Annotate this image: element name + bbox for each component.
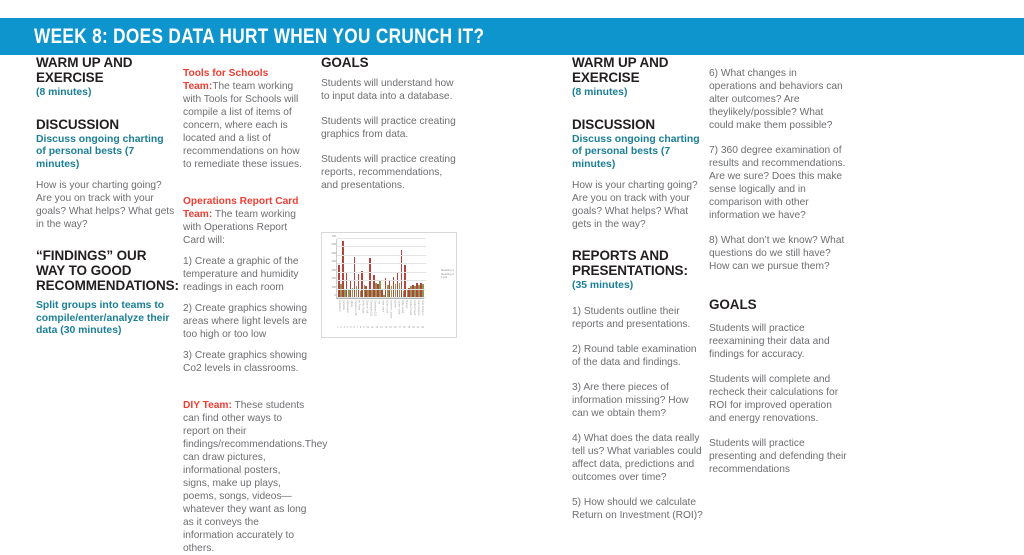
- chart-y-tick-label: 700: [332, 235, 336, 238]
- chart-y-tick-label: 0: [335, 294, 336, 297]
- chart-x-tick-label: Rear Entrance: [420, 300, 424, 328]
- chart-y-tick-label: 300: [332, 269, 336, 272]
- discussion-heading: DISCUSSION: [36, 117, 176, 132]
- question-item-7: 7) 360 degree examination of results and…: [709, 144, 847, 222]
- orc-item-3: 3) Create graphics showing Co2 levels in…: [183, 349, 307, 375]
- discussion-body: How is your charting going?Are you on tr…: [36, 179, 176, 231]
- goal-item-right-3: Students will practice presenting and de…: [709, 437, 847, 476]
- chart-y-tick-label: 600: [332, 243, 336, 246]
- chart-y-tick-label: 500: [332, 252, 336, 255]
- bar-chart-thumbnail: 0100200300400500600700 AuditoriumCafeter…: [321, 232, 457, 338]
- column-team-tasks: Tools for Schools Team:The team working …: [183, 55, 307, 555]
- goal-item-right-2: Students will complete and recheck their…: [709, 373, 847, 425]
- column-goals-chart: GOALS Students will understand how to in…: [321, 55, 457, 338]
- chart-gridline: 600: [337, 246, 426, 247]
- goal-item-right-1: Students will practice reexamining their…: [709, 322, 847, 361]
- chart-axis-mark: 8: [360, 326, 361, 329]
- chart-gridline: 700: [337, 238, 426, 239]
- chart-axis-mark: 20: [412, 326, 415, 329]
- chart-axis-mark: 13: [380, 326, 383, 329]
- chart-axis-mark: 16: [394, 326, 397, 329]
- chart-legend-item: Limit: [441, 276, 454, 280]
- orc-item-1: 1) Create a graphic of the temperature a…: [183, 255, 307, 294]
- chart-axis-mark: 12: [375, 326, 378, 329]
- chart-gridline: 500: [337, 255, 426, 256]
- chart-y-tick-label: 200: [332, 277, 336, 280]
- chart-gridline: 100: [337, 289, 426, 290]
- diy-team-paragraph: DIY Team: These students can find other …: [183, 399, 307, 555]
- chart-bar-group: [420, 283, 424, 298]
- report-item-3: 3) Are there pieces of information missi…: [572, 381, 707, 420]
- chart-bar: [422, 284, 424, 298]
- chart-y-tick-label: 100: [332, 286, 336, 289]
- question-item-8: 8) What don’t we know? What questions do…: [709, 234, 847, 273]
- chart-axis-mark: 3: [344, 326, 345, 329]
- column-reports-presentations: WARM UP AND EXERCISE (8 minutes) DISCUSS…: [572, 55, 707, 522]
- chart-axis-mark: 5: [350, 326, 351, 329]
- chart-gridline: 300: [337, 272, 426, 273]
- chart-axis-mark: 18: [403, 326, 406, 329]
- tools-for-schools-body: The team working with Tools for Schools …: [183, 81, 302, 170]
- diy-team-label: DIY Team:: [183, 400, 232, 411]
- report-item-5: 5) How should we calculate Return on Inv…: [572, 496, 707, 522]
- page-header-banner: WEEK 8: DOES DATA HURT WHEN YOU CRUNCH I…: [0, 18, 1024, 55]
- page-title: WEEK 8: DOES DATA HURT WHEN YOU CRUNCH I…: [34, 25, 484, 49]
- orc-item-2: 2) Create graphics showing areas where l…: [183, 302, 307, 341]
- chart-axis-mark: 4: [347, 326, 348, 329]
- chart-axis-mark: 2: [340, 326, 341, 329]
- column-warmup-findings: WARM UP AND EXERCISE (8 minutes) DISCUSS…: [36, 55, 176, 338]
- lesson-plan-sheet: WARM UP AND EXERCISE (8 minutes) DISCUSS…: [0, 55, 1024, 531]
- column-questions-goals: 6) What changes in operations and behavi…: [709, 55, 847, 476]
- goal-item-2: Students will practice creating graphics…: [321, 115, 457, 141]
- chart-axis-mark: 19: [408, 326, 411, 329]
- chart-gridline: 200: [337, 280, 426, 281]
- operations-report-card-paragraph: Operations Report Card Team: The team wo…: [183, 195, 307, 247]
- chart-axis-mark: 1: [337, 326, 338, 329]
- question-item-6: 6) What changes in operations and behavi…: [709, 67, 847, 132]
- findings-heading: “FINDINGS” OUR WAY TO GOOD RECOMMENDATIO…: [36, 248, 176, 293]
- report-item-2: 2) Round table examination of the data a…: [572, 343, 707, 369]
- goals-heading-left: GOALS: [321, 55, 457, 70]
- reports-heading: REPORTS AND PRESENTATIONS:: [572, 248, 707, 278]
- chart-legend: Reading 1Reading 2Limit: [441, 269, 454, 280]
- chart-axis-mark: 6: [353, 326, 354, 329]
- chart-axis-mark: 22: [421, 326, 424, 329]
- warmup-heading: WARM UP AND EXERCISE: [36, 55, 176, 85]
- goal-item-1: Students will understand how to input da…: [321, 77, 457, 103]
- chart-y-tick-label: 400: [332, 260, 336, 263]
- chart-axis-mark: 15: [389, 326, 392, 329]
- chart-axis-mark: 7: [357, 326, 358, 329]
- chart-x-axis-labels: AuditoriumCafeteriaGymnasiumLibraryCompu…: [337, 300, 424, 328]
- discussion-body-right: How is your charting going?Are you on tr…: [572, 179, 707, 231]
- findings-subheading: Split groups into teams to compile/enter…: [36, 300, 176, 338]
- chart-gridline: 0: [337, 297, 426, 298]
- report-item-1: 1) Students outline their reports and pr…: [572, 305, 707, 331]
- reports-duration: (35 minutes): [572, 280, 707, 293]
- chart-plot-area: 0100200300400500600700: [336, 239, 424, 299]
- chart-gridline: 400: [337, 263, 426, 264]
- warmup-duration-right: (8 minutes): [572, 87, 707, 100]
- goals-heading-right: GOALS: [709, 297, 847, 312]
- discussion-subheading-right: Discuss ongoing charting of personal bes…: [572, 134, 707, 172]
- goal-item-3: Students will practice creating reports,…: [321, 153, 457, 192]
- chart-axis-mark: 10: [366, 326, 369, 329]
- chart-axis-mark: 11: [371, 326, 373, 329]
- chart-axis-mark: 21: [417, 326, 420, 329]
- discussion-subheading: Discuss ongoing charting of personal bes…: [36, 134, 176, 172]
- tools-for-schools-paragraph: Tools for Schools Team:The team working …: [183, 67, 307, 171]
- chart-axis-mark: 14: [385, 326, 388, 329]
- report-item-4: 4) What does the data really tell us? Wh…: [572, 432, 707, 484]
- chart-axis-mark: 9: [363, 326, 364, 329]
- warmup-heading-right: WARM UP AND EXERCISE: [572, 55, 707, 85]
- discussion-heading-right: DISCUSSION: [572, 117, 707, 132]
- warmup-duration: (8 minutes): [36, 87, 176, 100]
- chart-axis-mark: 17: [398, 326, 401, 329]
- chart-axis-strip: 12345678910111213141516171819202122: [337, 326, 424, 329]
